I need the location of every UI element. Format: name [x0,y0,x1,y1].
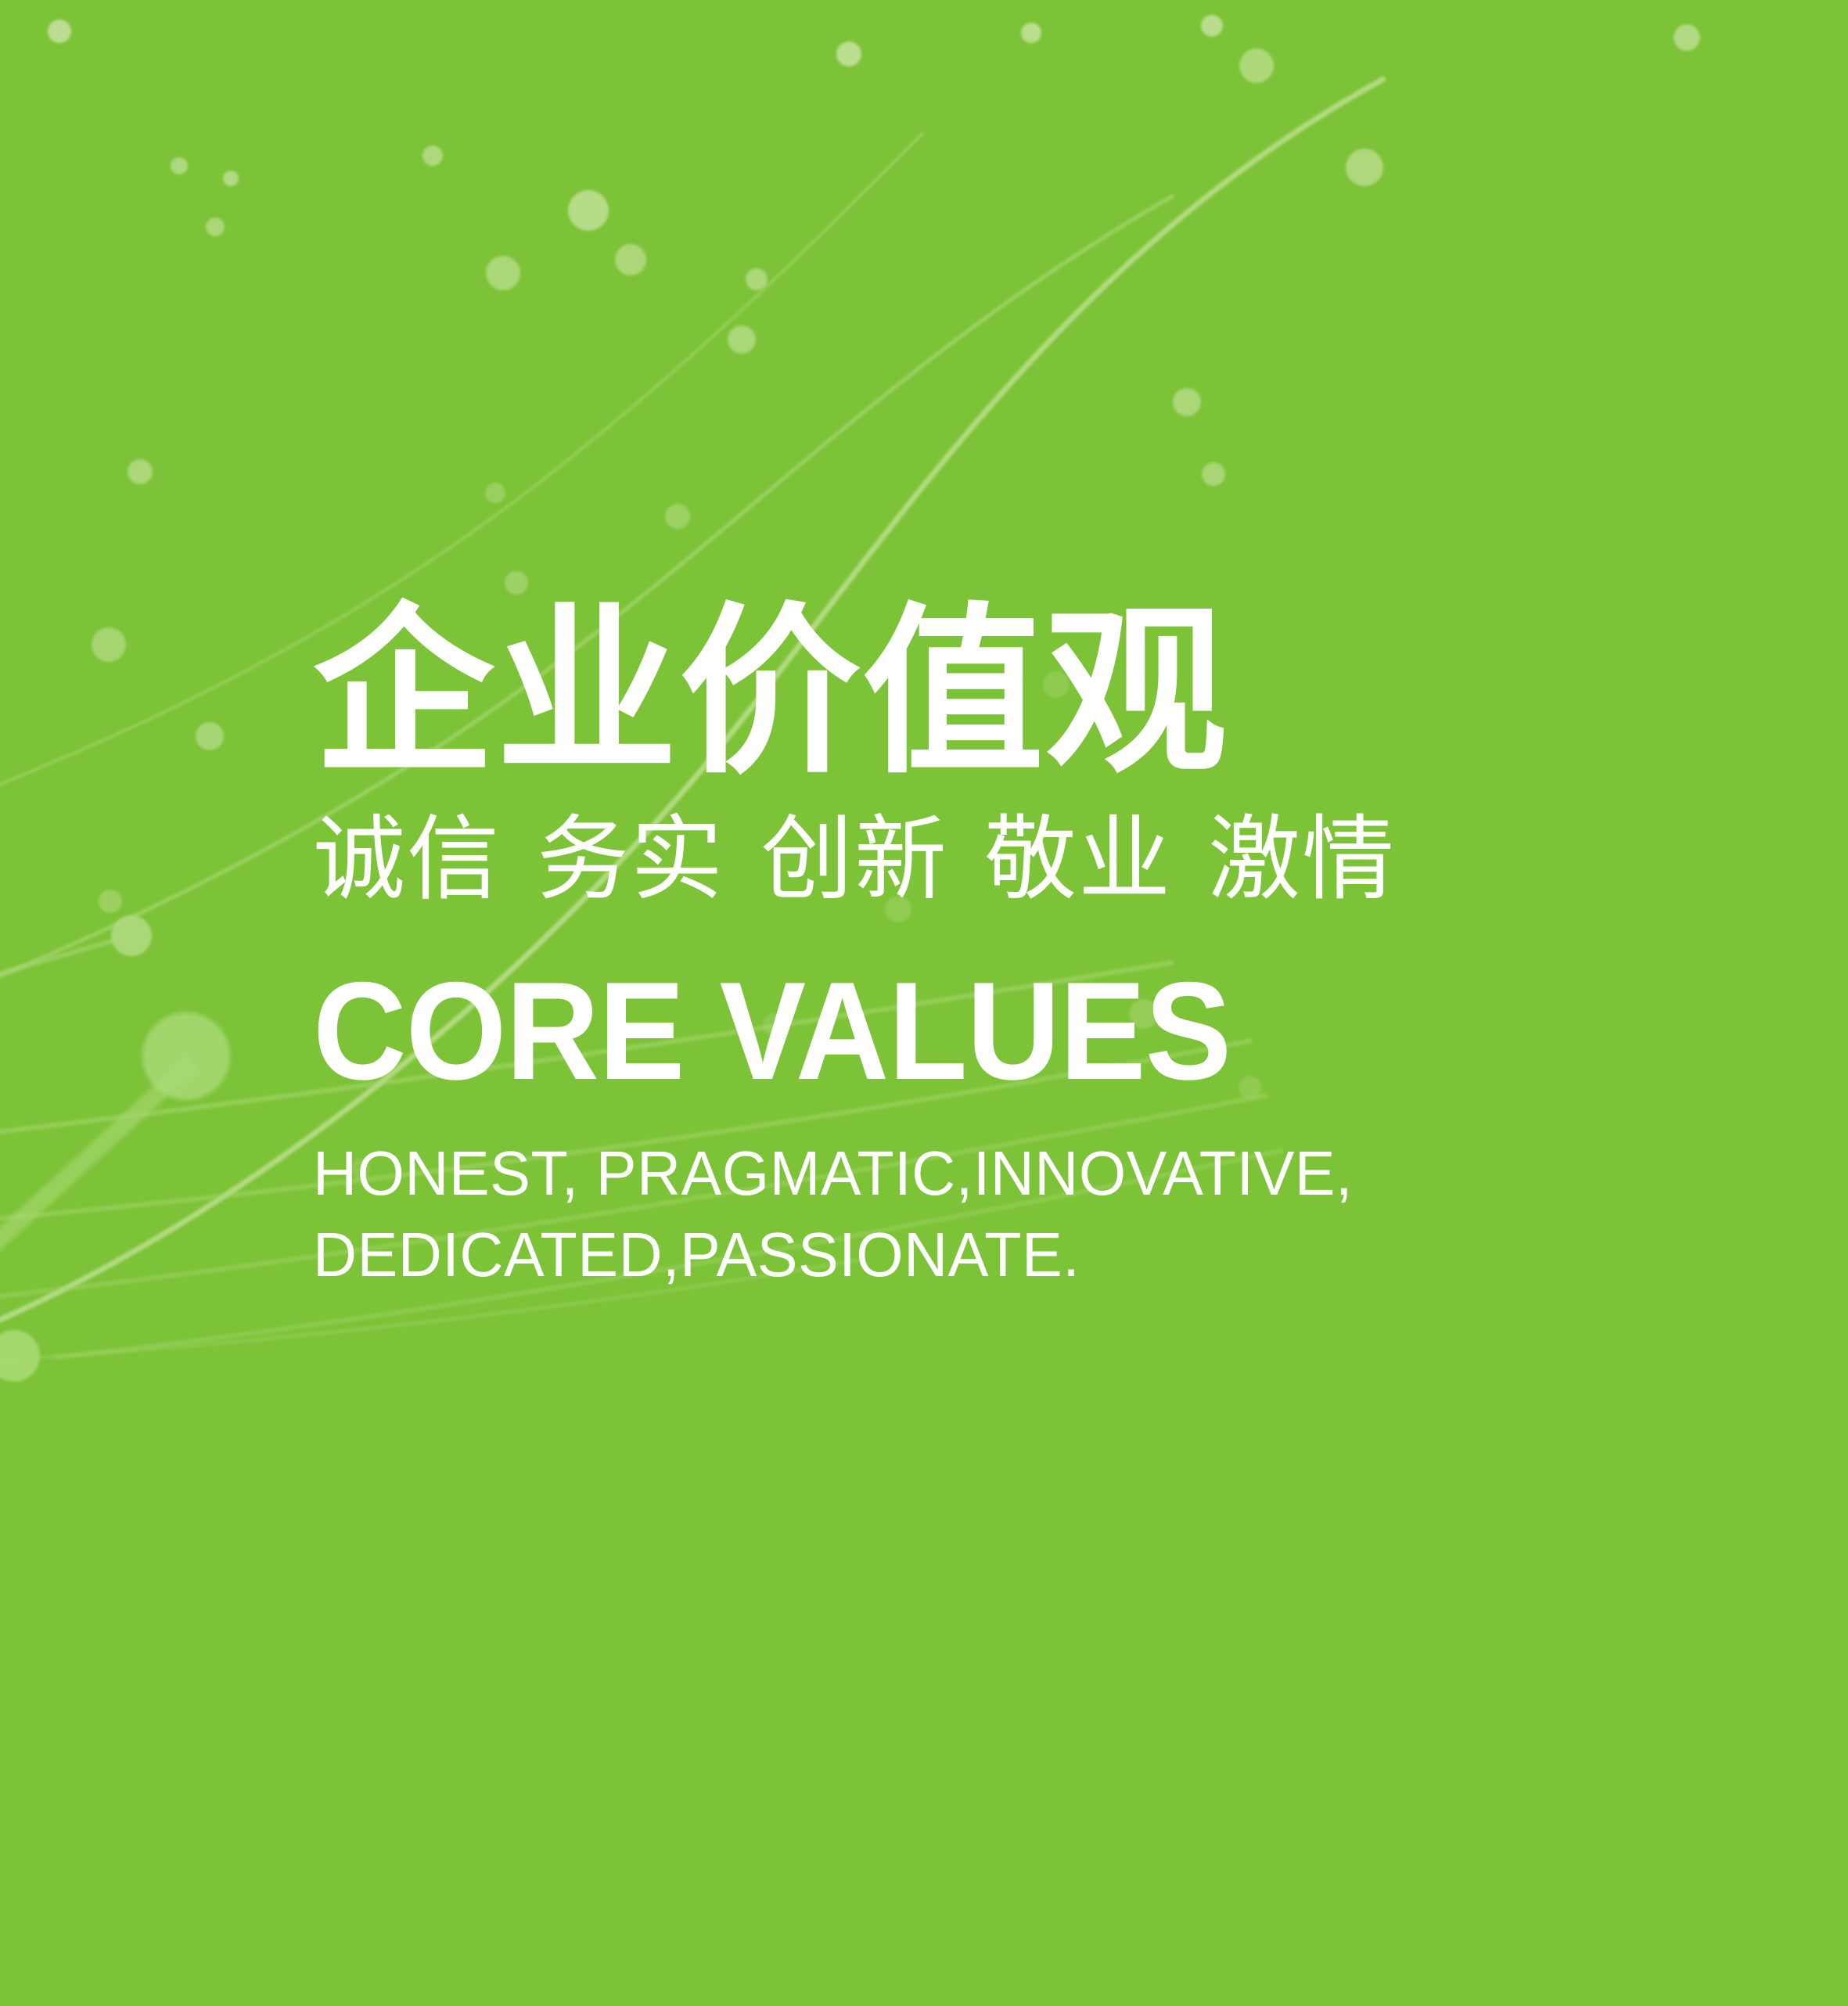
value-word-innovation: 创新 [760,808,948,911]
value-word-passion: 激情 [1208,808,1396,911]
page-title-chinese: 企业价值观 [313,602,1721,784]
value-word-integrity: 诚信 [313,808,501,911]
page-title-english: CORE VALUES [313,967,1623,1095]
decor-stub-topleft [0,915,152,978]
subtitle-english: HONEST, PRAGMATIC,INNOVATIVE, DEDICATED,… [313,1133,1679,1296]
subtitle-chinese: 诚信务实创新敬业激情 [313,812,1721,909]
text-block: 企业价值观 诚信务实创新敬业激情 CORE VALUES HONEST, PRA… [313,602,1721,1296]
value-word-pragmatic: 务实 [537,808,724,911]
subtitle-english-line-1: HONEST, PRAGMATIC,INNOVATIVE, [313,1133,1679,1214]
value-word-dedication: 敬业 [984,808,1172,911]
decor-spoke-thick [0,1012,230,1267]
decor-node-bottomleft [0,1330,40,1382]
subtitle-english-line-2: DEDICATED,PASSIONATE. [313,1214,1679,1296]
core-values-poster: 企业价值观 诚信务实创新敬业激情 CORE VALUES HONEST, PRA… [0,0,1848,2006]
